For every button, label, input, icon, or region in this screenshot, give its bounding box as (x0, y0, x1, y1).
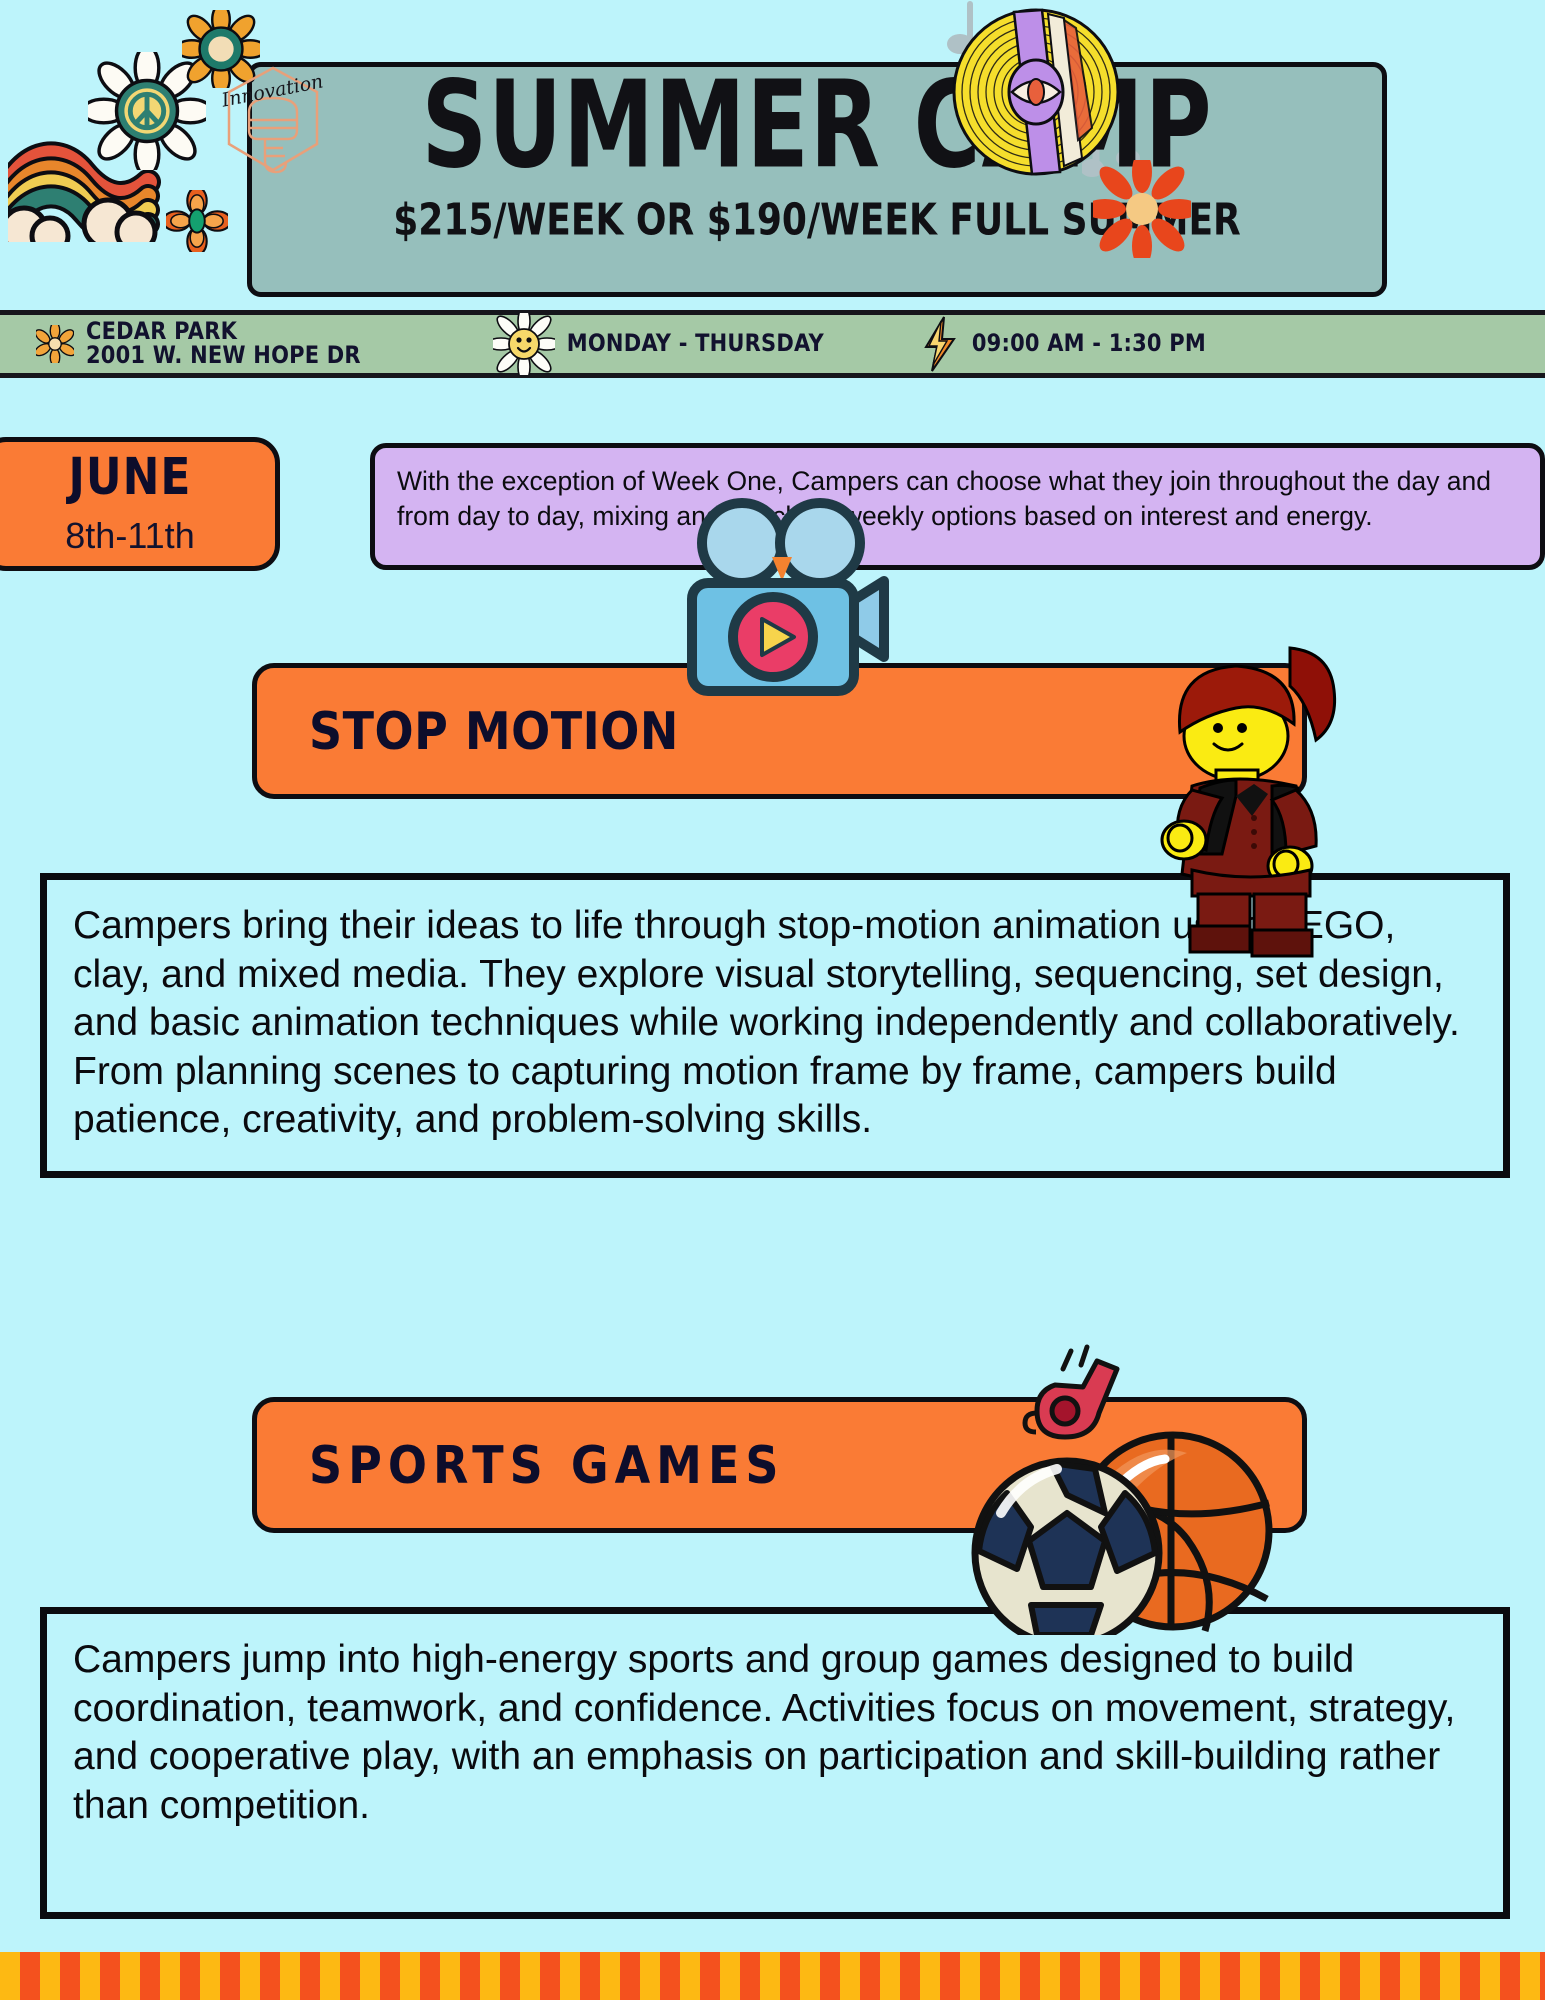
flower-icon (36, 325, 74, 363)
section-description-sports-games: Campers jump into high-energy sports and… (40, 1607, 1510, 1919)
lego-minifigure-icon (1140, 640, 1362, 958)
info-location: CEDAR PARK 2001 W. NEW HOPE DR (36, 320, 361, 367)
time-label: 09:00 AM - 1:30 PM (972, 331, 1206, 358)
movie-camera-icon (680, 495, 890, 705)
info-days: MONDAY - THURSDAY (493, 313, 824, 375)
red-daisy-icon (1093, 160, 1191, 258)
week-note-text: With the exception of Week One, Campers … (397, 464, 1518, 534)
soccer-basketball-icon (955, 1335, 1275, 1635)
footer-stripe (0, 1952, 1545, 2000)
sports-games-text: Campers jump into high-energy sports and… (73, 1636, 1477, 1830)
week-month: JUNE (69, 448, 192, 507)
lightning-bolt-icon (920, 315, 960, 373)
elephant-logo-icon: Innovation (213, 62, 333, 187)
footer-stripe-inner (0, 1952, 960, 1992)
whistle-icon (1025, 1347, 1117, 1437)
smiley-daisy-icon (493, 313, 555, 375)
week-date-badge: JUNE 8th-11th (0, 437, 280, 571)
location-line-2: 2001 W. NEW HOPE DR (86, 342, 361, 369)
week-dates: 8th-11th (65, 515, 194, 557)
flyer-page: Innovation SUMMER CAMP $215/WEEK OR $1 (0, 0, 1545, 2000)
week-note: With the exception of Week One, Campers … (370, 443, 1545, 570)
section-title-stop-motion: STOP MOTION (309, 701, 679, 761)
vinyl-record-icon (952, 8, 1120, 176)
section-title-sports-games: SPORTS GAMES (309, 1435, 785, 1495)
price-line: $215/WEEK OR $190/WEEK FULL SUMMER (247, 195, 1387, 245)
small-flower-icon (166, 190, 228, 252)
days-label: MONDAY - THURSDAY (567, 331, 824, 358)
info-bar: CEDAR PARK 2001 W. NEW HOPE DR MONDAY - … (0, 310, 1545, 378)
info-time: 09:00 AM - 1:30 PM (920, 315, 1206, 373)
page-title: SUMMER CAMP (276, 44, 1359, 207)
